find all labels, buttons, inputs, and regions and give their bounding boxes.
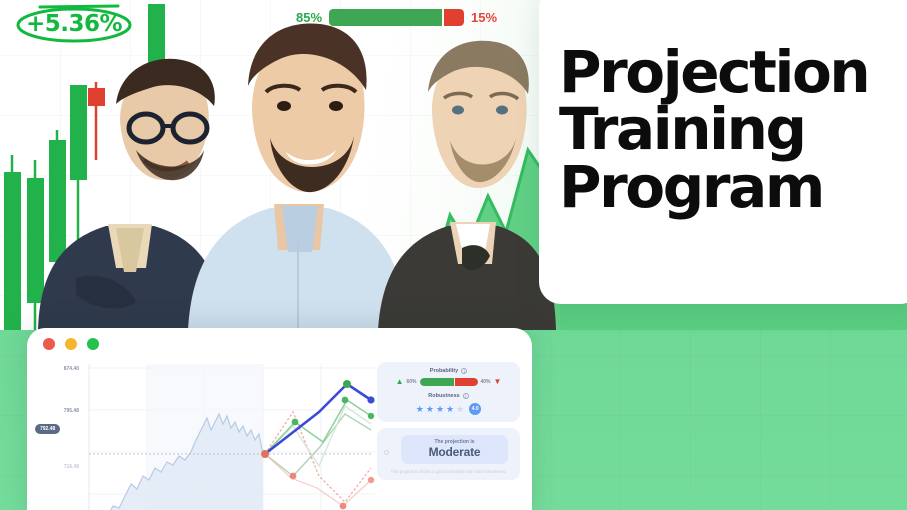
page-title: Projection Training Program [559, 44, 907, 216]
probability-up-label: 60% [406, 379, 416, 385]
info-icon-robustness[interactable]: i [463, 393, 469, 399]
probability-bar [420, 378, 478, 386]
minimize-button[interactable] [65, 338, 77, 350]
probability-bar-green [420, 378, 454, 386]
arrow-down-icon: ▼ [494, 378, 502, 386]
maximize-button[interactable] [87, 338, 99, 350]
price-chart[interactable]: 874.40 795.48 792.48 716.48 [27, 356, 375, 510]
app-window: 874.40 795.48 792.48 716.48 Probability … [27, 328, 532, 510]
robustness-stars: ★ ★ ★ ★ ★ 4.0 [383, 403, 514, 415]
person-right [370, 22, 560, 330]
arrow-up-icon: ▲ [396, 378, 404, 386]
sentiment-bar-green [329, 9, 442, 26]
probability-title: Probability [430, 368, 458, 374]
promo-graphic: +5.36% 85% 15% Projection Training Progr… [0, 0, 907, 510]
probability-title-row: Probability i [383, 368, 514, 374]
sentiment-right-label: 15% [471, 10, 497, 25]
title-line-3: Program [559, 159, 907, 216]
window-traffic-lights [43, 338, 99, 350]
probability-card: Probability i ▲ 60% 40% ▼ R [377, 362, 520, 422]
projection-value-box: The projection is Moderate [401, 435, 508, 464]
chart-y-axis: 874.40 795.48 792.48 716.48 [33, 360, 85, 510]
robustness-title: Robustness [428, 393, 459, 399]
projection-value: Moderate [409, 445, 500, 459]
current-price-pill: 792.48 [35, 424, 60, 434]
star-icon-4: ★ [446, 405, 454, 414]
y-axis-label-1: 795.48 [33, 408, 79, 414]
projection-card: The projection is Moderate This projecti… [377, 428, 520, 480]
info-icon[interactable]: i [461, 368, 467, 374]
sentiment-bar: 85% 15% [296, 9, 497, 26]
title-card: Projection Training Program [539, 0, 907, 304]
metrics-panel: Probability i ▲ 60% 40% ▼ R [375, 356, 525, 510]
star-icon-3: ★ [436, 405, 444, 414]
star-icon-2: ★ [426, 405, 434, 414]
projection-note: This projection shows a good probability… [383, 469, 514, 475]
star-icon-1: ★ [416, 405, 424, 414]
sentiment-bar-track [329, 9, 464, 26]
robustness-score-badge: 4.0 [469, 403, 481, 415]
bullet-icon [384, 450, 389, 455]
title-line-2: Training [559, 101, 907, 158]
title-line-1: Projection [559, 44, 907, 101]
star-icon-5: ★ [456, 405, 464, 414]
probability-bar-red [455, 378, 478, 386]
probability-row: ▲ 60% 40% ▼ [383, 378, 514, 386]
sentiment-bar-red [444, 9, 464, 26]
y-axis-label-2: 716.48 [33, 464, 79, 470]
badge-value: +5.36% [26, 11, 122, 37]
sentiment-left-label: 85% [296, 10, 322, 25]
percentage-badge: +5.36% [14, 4, 134, 44]
robustness-title-row: Robustness i [383, 393, 514, 399]
close-button[interactable] [43, 338, 55, 350]
y-axis-label-0: 874.40 [33, 366, 79, 372]
probability-down-label: 40% [481, 379, 491, 385]
